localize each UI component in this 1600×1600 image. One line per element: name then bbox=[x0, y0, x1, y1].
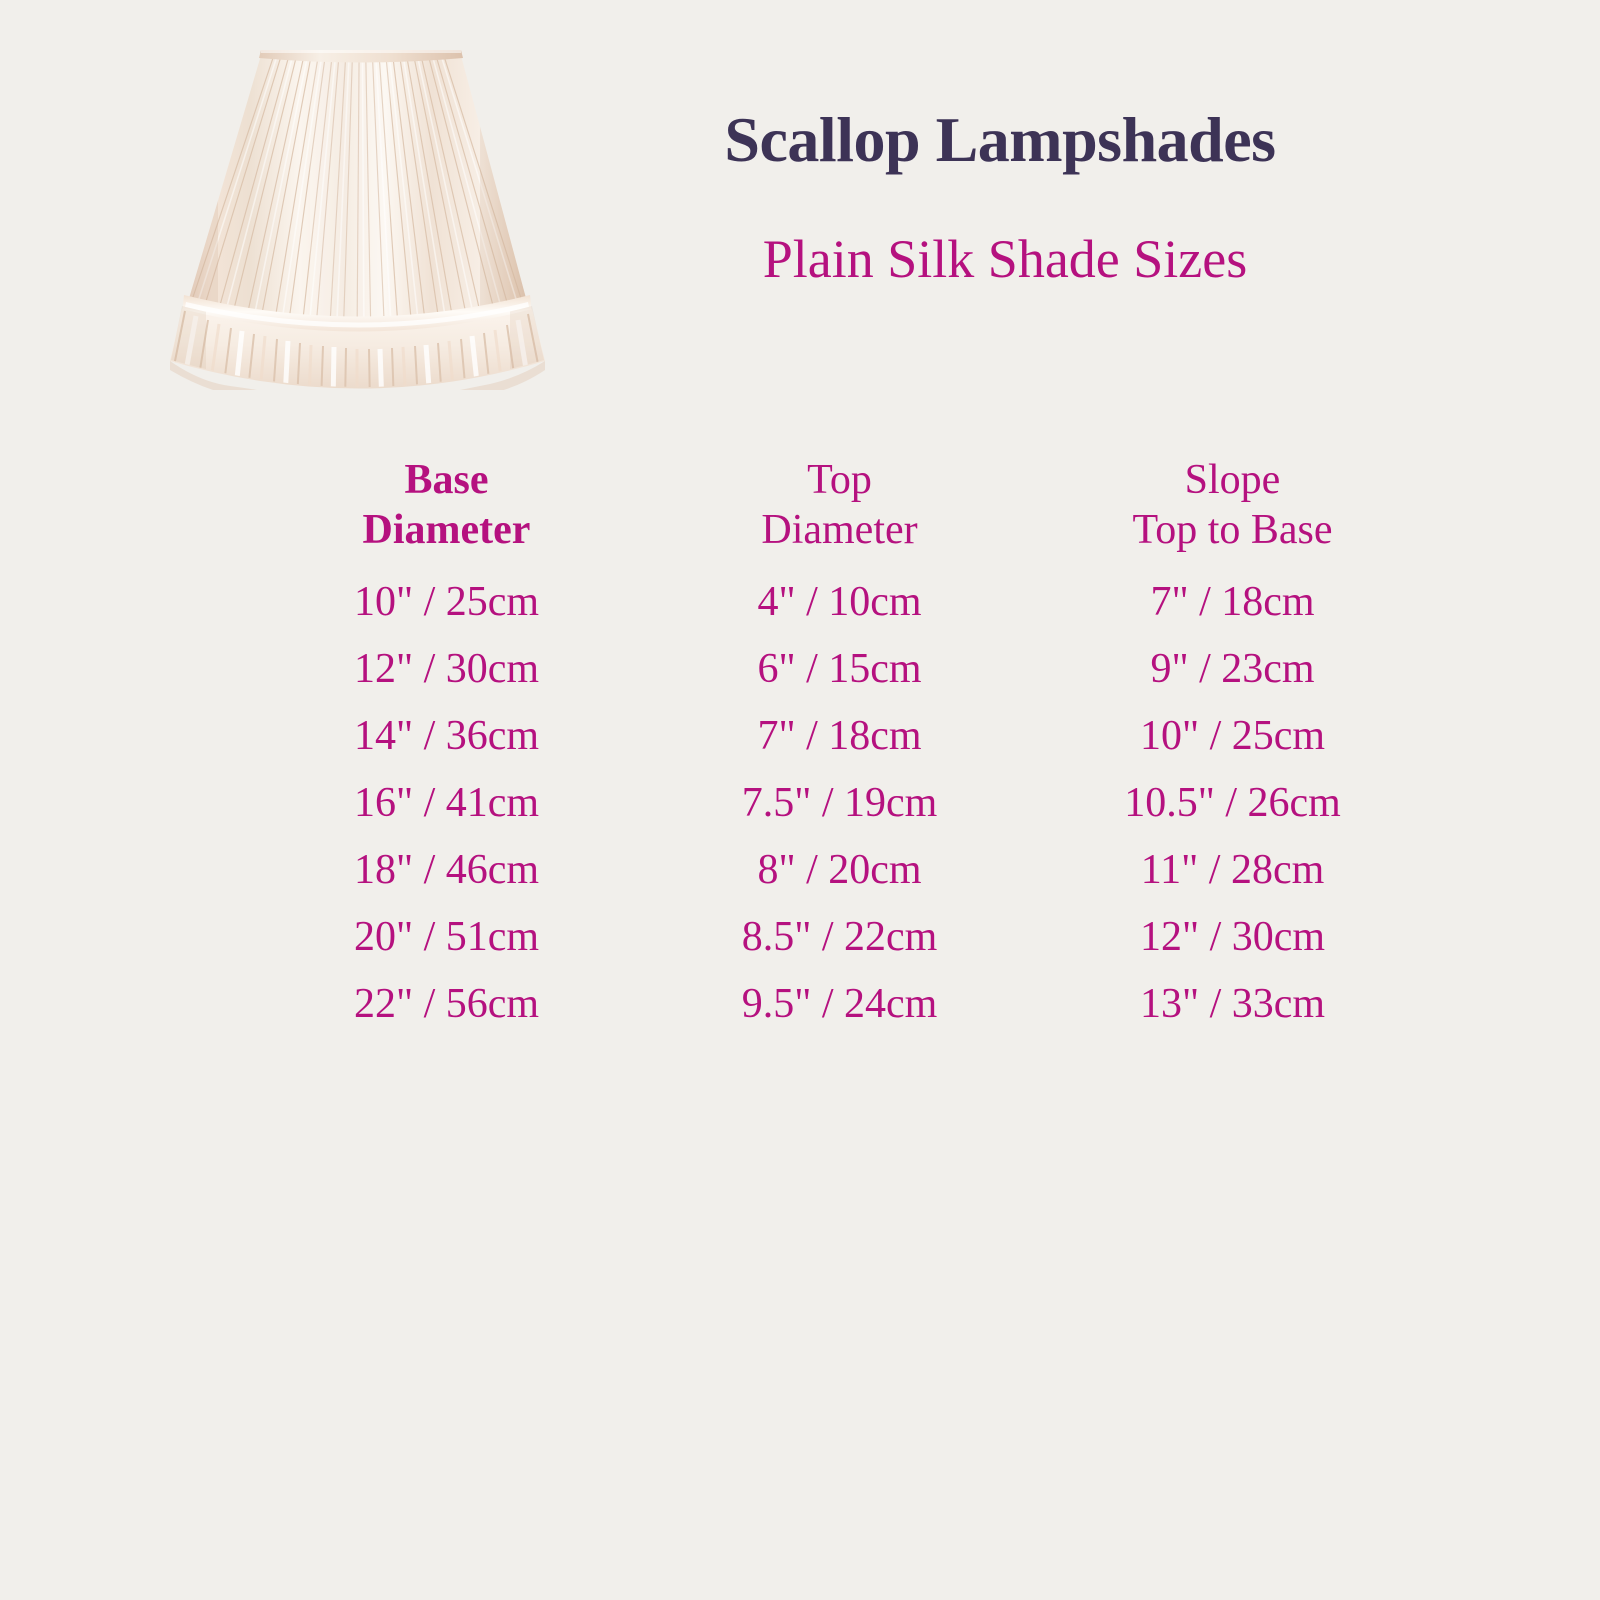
table-cell: 18" / 46cm bbox=[354, 837, 539, 904]
table-cell: 9" / 23cm bbox=[1150, 636, 1314, 703]
table-cell: 20" / 51cm bbox=[354, 904, 539, 971]
table-cell: 7" / 18cm bbox=[757, 703, 921, 770]
column-header-slope: Slope Top to Base bbox=[1132, 455, 1332, 555]
table-cell: 10" / 25cm bbox=[354, 569, 539, 636]
table-cell: 22" / 56cm bbox=[354, 971, 539, 1038]
column-header-line-2: Diameter bbox=[761, 505, 917, 555]
table-cell: 4" / 10cm bbox=[757, 569, 921, 636]
column-header-top-diameter: Top Diameter bbox=[761, 455, 917, 555]
column-header-line-1: Slope bbox=[1132, 455, 1332, 505]
table-cell: 7" / 18cm bbox=[1150, 569, 1314, 636]
lampshade-product-image bbox=[130, 30, 590, 390]
column-slope-top-to-base: Slope Top to Base 7" / 18cm 9" / 23cm 10… bbox=[1036, 455, 1429, 1038]
column-values-base-diameter: 10" / 25cm 12" / 30cm 14" / 36cm 16" / 4… bbox=[354, 569, 539, 1038]
table-cell: 7.5" / 19cm bbox=[742, 770, 938, 837]
table-cell: 14" / 36cm bbox=[354, 703, 539, 770]
column-header-line-2: Diameter bbox=[363, 505, 531, 555]
table-cell: 16" / 41cm bbox=[354, 770, 539, 837]
page-subtitle: Plain Silk Shade Sizes bbox=[600, 232, 1410, 286]
shade-sizes-table: Base Diameter 10" / 25cm 12" / 30cm 14" … bbox=[250, 455, 1430, 1038]
column-header-line-1: Base bbox=[363, 455, 531, 505]
table-cell: 12" / 30cm bbox=[1140, 904, 1325, 971]
table-cell: 8" / 20cm bbox=[757, 837, 921, 904]
column-base-diameter: Base Diameter 10" / 25cm 12" / 30cm 14" … bbox=[250, 455, 643, 1038]
table-cell: 12" / 30cm bbox=[354, 636, 539, 703]
table-cell: 9.5" / 24cm bbox=[742, 971, 938, 1038]
table-cell: 13" / 33cm bbox=[1140, 971, 1325, 1038]
table-cell: 8.5" / 22cm bbox=[742, 904, 938, 971]
table-cell: 6" / 15cm bbox=[757, 636, 921, 703]
table-cell: 10.5" / 26cm bbox=[1124, 770, 1341, 837]
column-header-line-2: Top to Base bbox=[1132, 505, 1332, 555]
column-header-line-1: Top bbox=[761, 455, 917, 505]
column-top-diameter: Top Diameter 4" / 10cm 6" / 15cm 7" / 18… bbox=[643, 455, 1036, 1038]
table-cell: 11" / 28cm bbox=[1141, 837, 1325, 904]
column-values-top-diameter: 4" / 10cm 6" / 15cm 7" / 18cm 7.5" / 19c… bbox=[742, 569, 938, 1038]
page-title: Scallop Lampshades bbox=[600, 108, 1400, 172]
table-cell: 10" / 25cm bbox=[1140, 703, 1325, 770]
column-values-slope: 7" / 18cm 9" / 23cm 10" / 25cm 10.5" / 2… bbox=[1124, 569, 1341, 1038]
column-header-base-diameter: Base Diameter bbox=[363, 455, 531, 555]
